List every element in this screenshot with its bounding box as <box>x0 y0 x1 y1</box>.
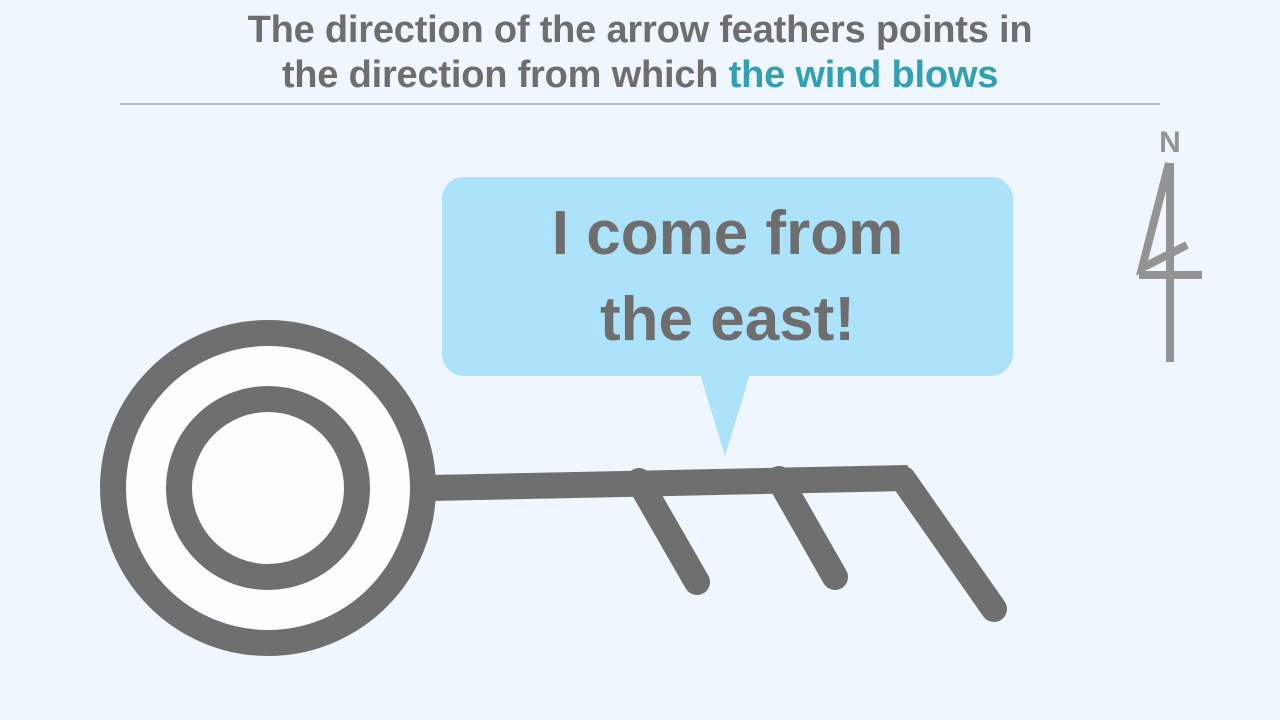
north-label: N <box>1159 126 1181 159</box>
barb-feather-3 <box>903 479 994 609</box>
barb-feather-2 <box>779 479 835 577</box>
barb-feather-1 <box>639 481 697 582</box>
barb-staff <box>430 478 908 488</box>
vector-layer: N <box>0 0 1280 720</box>
north-arrow-icon: N <box>1139 126 1202 362</box>
station-inner-ring <box>179 399 357 577</box>
north-arrowhead <box>1142 163 1187 268</box>
slide-canvas: The direction of the arrow feathers poin… <box>0 0 1280 720</box>
wind-barb-icon <box>113 333 994 643</box>
